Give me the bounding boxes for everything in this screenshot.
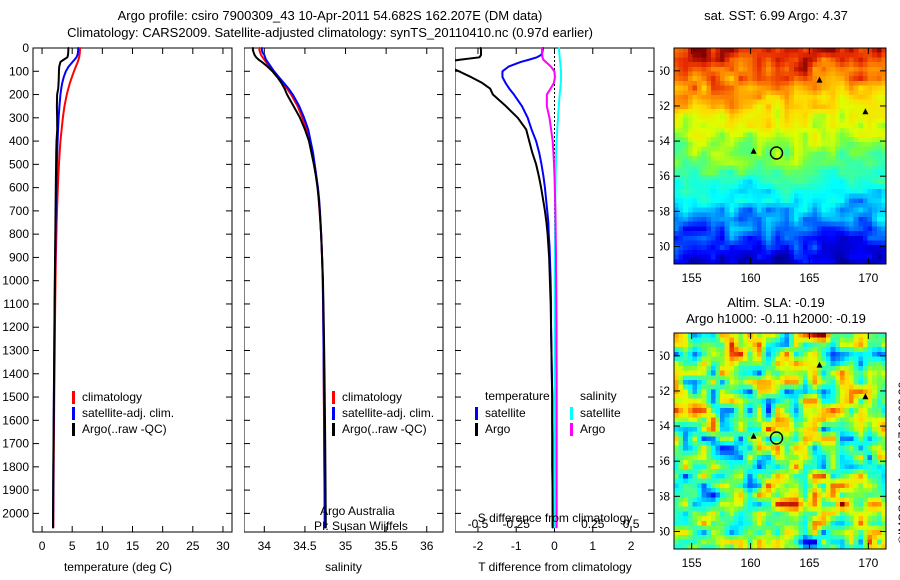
map-cell <box>858 347 863 352</box>
map-cell <box>840 371 845 376</box>
map-cell <box>798 427 803 432</box>
map-cell <box>739 511 744 516</box>
map-cell <box>725 100 730 105</box>
map-cell <box>729 95 734 100</box>
map-cell <box>785 137 790 142</box>
map-cell <box>849 441 854 446</box>
map-cell <box>817 474 822 479</box>
map-cell <box>831 422 836 427</box>
map-cell <box>775 133 780 138</box>
map-cell <box>808 147 813 152</box>
map-cell <box>845 338 850 343</box>
tick-label: 1700 <box>2 437 29 451</box>
map-cell <box>762 356 767 361</box>
map-cell <box>785 347 790 352</box>
map-cell <box>757 526 762 531</box>
map-cell <box>743 338 748 343</box>
map-cell <box>729 100 734 105</box>
map-cell <box>692 109 697 114</box>
map-cell <box>697 474 702 479</box>
map-cell <box>831 90 836 95</box>
map-cell <box>794 250 799 255</box>
map-cell <box>780 250 785 255</box>
map-cell <box>789 441 794 446</box>
map-cell <box>734 203 739 208</box>
map-cell <box>688 540 693 545</box>
map-cell <box>743 375 748 380</box>
map-cell <box>688 347 693 352</box>
map-cell <box>789 450 794 455</box>
map-cell <box>692 151 697 156</box>
map-cell <box>683 109 688 114</box>
map-cell <box>798 469 803 474</box>
map-cell <box>845 385 850 390</box>
difference-x-axis-label-top: S difference from climatology <box>450 511 660 525</box>
map-cell <box>835 460 840 465</box>
map-cell <box>863 464 868 469</box>
legend-swatch-argo <box>332 423 335 436</box>
map-cell <box>752 231 757 236</box>
map-cell <box>688 526 693 531</box>
map-cell <box>771 212 776 217</box>
map-cell <box>715 385 720 390</box>
map-cell <box>743 450 748 455</box>
map-cell <box>725 184 730 189</box>
map-cell <box>748 161 753 166</box>
map-cell <box>734 535 739 540</box>
map-cell <box>803 198 808 203</box>
map-cell <box>808 170 813 175</box>
map-cell <box>743 151 748 156</box>
map-cell <box>835 493 840 498</box>
map-cell <box>812 179 817 184</box>
map-cell <box>739 361 744 366</box>
map-cell <box>739 507 744 512</box>
map-cell <box>674 361 679 366</box>
map-cell <box>688 123 693 128</box>
map-cell <box>849 208 854 213</box>
map-cell <box>794 62 799 67</box>
map-cell <box>831 226 836 231</box>
map-cell <box>679 469 684 474</box>
map-cell <box>725 90 730 95</box>
map-cell <box>688 236 693 241</box>
map-cell <box>766 62 771 67</box>
map-cell <box>817 48 822 53</box>
map-cell <box>702 198 707 203</box>
map-cell <box>877 217 882 222</box>
map-cell <box>757 212 762 217</box>
map-cell <box>877 342 882 347</box>
map-cell <box>798 540 803 545</box>
map-cell <box>835 469 840 474</box>
map-cell <box>872 408 877 413</box>
map-cell <box>697 57 702 62</box>
map-cell <box>757 250 762 255</box>
map-cell <box>715 483 720 488</box>
map-cell <box>877 133 882 138</box>
map-cell <box>766 231 771 236</box>
map-cell <box>702 338 707 343</box>
map-cell <box>872 413 877 418</box>
map-cell <box>808 516 813 521</box>
map-cell <box>840 236 845 241</box>
map-cell <box>775 474 780 479</box>
map-cell <box>849 474 854 479</box>
map-cell <box>775 71 780 76</box>
map-cell <box>729 469 734 474</box>
map-cell <box>739 147 744 152</box>
map-cell <box>683 441 688 446</box>
map-cell <box>858 446 863 451</box>
map-cell <box>679 516 684 521</box>
map-cell <box>817 189 822 194</box>
map-cell <box>743 356 748 361</box>
map-cell <box>688 446 693 451</box>
map-cell <box>817 95 822 100</box>
map-cell <box>812 241 817 246</box>
map-cell <box>692 338 697 343</box>
map-cell <box>803 208 808 213</box>
map-cell <box>688 469 693 474</box>
map-cell <box>711 123 716 128</box>
map-cell <box>854 222 859 227</box>
map-cell <box>794 422 799 427</box>
map-cell <box>729 86 734 91</box>
map-cell <box>766 526 771 531</box>
map-cell <box>748 114 753 119</box>
map-cell <box>872 175 877 180</box>
map-cell <box>697 123 702 128</box>
map-cell <box>785 161 790 166</box>
map-cell <box>692 184 697 189</box>
map-cell <box>863 479 868 484</box>
map-cell <box>826 250 831 255</box>
map-cell <box>798 488 803 493</box>
map-cell <box>794 208 799 213</box>
map-cell <box>803 479 808 484</box>
map-cell <box>845 502 850 507</box>
map-cell <box>831 137 836 142</box>
map-cell <box>706 76 711 81</box>
map-cell <box>812 175 817 180</box>
map-cell <box>794 502 799 507</box>
map-cell <box>858 62 863 67</box>
map-cell <box>706 245 711 250</box>
map-cell <box>674 231 679 236</box>
map-cell <box>748 507 753 512</box>
map-cell <box>775 76 780 81</box>
map-cell <box>679 488 684 493</box>
map-cell <box>752 338 757 343</box>
map-cell <box>697 408 702 413</box>
map-cell <box>720 375 725 380</box>
map-cell <box>780 455 785 460</box>
map-cell <box>683 422 688 427</box>
map-cell <box>775 511 780 516</box>
map-cell <box>817 109 822 114</box>
map-cell <box>872 441 877 446</box>
map-cell <box>702 114 707 119</box>
map-cell <box>775 114 780 119</box>
map-cell <box>775 361 780 366</box>
map-cell <box>858 427 863 432</box>
map-cell <box>766 446 771 451</box>
map-cell <box>789 212 794 217</box>
tick-label: 155 <box>682 271 702 285</box>
map-cell <box>845 427 850 432</box>
map-cell <box>702 502 707 507</box>
map-cell <box>789 133 794 138</box>
map-cell <box>762 90 767 95</box>
map-cell <box>771 128 776 133</box>
map-cell <box>702 380 707 385</box>
map-cell <box>771 165 776 170</box>
map-cell <box>817 446 822 451</box>
map-cell <box>739 222 744 227</box>
map-cell <box>812 48 817 53</box>
map-cell <box>702 81 707 86</box>
map-cell <box>715 250 720 255</box>
map-cell <box>743 170 748 175</box>
map-cell <box>858 133 863 138</box>
map-cell <box>798 222 803 227</box>
map-cell <box>757 123 762 128</box>
map-cell <box>706 502 711 507</box>
map-cell <box>789 156 794 161</box>
map-cell <box>803 123 808 128</box>
map-cell <box>785 371 790 376</box>
map-cell <box>683 380 688 385</box>
map-cell <box>688 366 693 371</box>
map-cell <box>762 521 767 526</box>
map-cell <box>785 241 790 246</box>
tick-label: 1900 <box>2 483 29 497</box>
map-cell <box>771 118 776 123</box>
map-cell <box>877 62 882 67</box>
map-cell <box>748 245 753 250</box>
map-cell <box>849 464 854 469</box>
map-cell <box>849 432 854 437</box>
map-cell <box>877 86 882 91</box>
map-cell <box>702 100 707 105</box>
map-cell <box>752 352 757 357</box>
map-cell <box>826 455 831 460</box>
map-cell <box>785 71 790 76</box>
map-cell <box>743 361 748 366</box>
map-cell <box>812 488 817 493</box>
map-cell <box>720 123 725 128</box>
map-cell <box>812 255 817 260</box>
map-cell <box>706 147 711 152</box>
map-cell <box>808 361 813 366</box>
map-cell <box>780 422 785 427</box>
map-cell <box>752 81 757 86</box>
map-cell <box>798 356 803 361</box>
map-cell <box>692 67 697 72</box>
map-cell <box>831 57 836 62</box>
map-cell <box>831 250 836 255</box>
map-cell <box>821 347 826 352</box>
map-cell <box>877 479 882 484</box>
map-cell <box>854 217 859 222</box>
map-cell <box>835 114 840 119</box>
map-cell <box>826 338 831 343</box>
map-cell <box>679 236 684 241</box>
map-cell <box>808 375 813 380</box>
map-cell <box>840 165 845 170</box>
map-cell <box>720 194 725 199</box>
map-cell <box>702 530 707 535</box>
map-cell <box>789 526 794 531</box>
map-cell <box>771 255 776 260</box>
map-cell <box>752 526 757 531</box>
map-cell <box>702 165 707 170</box>
map-cell <box>821 118 826 123</box>
map-cell <box>674 338 679 343</box>
map-cell <box>734 455 739 460</box>
map-cell <box>702 366 707 371</box>
map-cell <box>688 231 693 236</box>
map-cell <box>812 100 817 105</box>
map-cell <box>840 245 845 250</box>
map-cell <box>766 165 771 170</box>
map-cell <box>877 526 882 531</box>
map-cell <box>789 488 794 493</box>
map-cell <box>835 100 840 105</box>
map-cell <box>798 385 803 390</box>
map-cell <box>863 521 868 526</box>
map-cell <box>798 474 803 479</box>
map-cell <box>734 511 739 516</box>
map-cell <box>780 62 785 67</box>
map-cell <box>835 198 840 203</box>
map-cell <box>854 338 859 343</box>
legend-swatch-satellite <box>72 407 75 420</box>
map-cell <box>752 441 757 446</box>
map-cell <box>725 57 730 62</box>
map-cell <box>762 165 767 170</box>
map-cell <box>785 142 790 147</box>
map-cell <box>679 231 684 236</box>
map-cell <box>683 479 688 484</box>
map-cell <box>697 497 702 502</box>
map-cell <box>789 109 794 114</box>
map-cell <box>849 231 854 236</box>
map-cell <box>697 128 702 133</box>
map-cell <box>854 356 859 361</box>
map-cell <box>748 441 753 446</box>
map-cell <box>817 497 822 502</box>
map-cell <box>872 427 877 432</box>
map-cell <box>720 380 725 385</box>
map-cell <box>803 380 808 385</box>
map-cell <box>794 104 799 109</box>
map-cell <box>706 236 711 241</box>
map-cell <box>683 241 688 246</box>
map-cell <box>766 250 771 255</box>
map-cell <box>845 245 850 250</box>
map-cell <box>803 488 808 493</box>
map-cell <box>794 441 799 446</box>
map-cell <box>748 76 753 81</box>
tick-label: 600 <box>9 181 29 195</box>
map-cell <box>817 403 822 408</box>
map-cell <box>798 147 803 152</box>
map-cell <box>766 255 771 260</box>
map-cell <box>845 530 850 535</box>
map-cell <box>697 479 702 484</box>
map-cell <box>743 165 748 170</box>
map-cell <box>808 399 813 404</box>
legend-label-climatology: climatology <box>82 390 142 404</box>
map-cell <box>711 371 716 376</box>
map-cell <box>725 394 730 399</box>
map-cell <box>798 67 803 72</box>
map-cell <box>835 371 840 376</box>
map-cell <box>692 194 697 199</box>
map-cell <box>849 333 854 338</box>
map-cell <box>845 464 850 469</box>
map-cell <box>702 255 707 260</box>
map-cell <box>808 198 813 203</box>
map-cell <box>766 198 771 203</box>
map-cell <box>780 399 785 404</box>
map-cell <box>863 147 868 152</box>
map-cell <box>720 76 725 81</box>
map-cell <box>798 90 803 95</box>
map-cell <box>748 109 753 114</box>
map-cell <box>849 502 854 507</box>
map-cell <box>812 352 817 357</box>
map-cell <box>808 118 813 123</box>
map-cell <box>845 118 850 123</box>
map-cell <box>706 432 711 437</box>
map-cell <box>683 184 688 189</box>
map-cell <box>674 48 679 53</box>
map-cell <box>766 516 771 521</box>
map-cell <box>697 338 702 343</box>
map-cell <box>725 403 730 408</box>
map-cell <box>702 511 707 516</box>
map-cell <box>771 137 776 142</box>
map-cell <box>817 385 822 390</box>
map-cell <box>840 142 845 147</box>
map-cell <box>831 432 836 437</box>
map-cell <box>674 366 679 371</box>
map-cell <box>877 255 882 260</box>
map-cell <box>863 488 868 493</box>
map-cell <box>711 403 716 408</box>
map-cell <box>762 394 767 399</box>
map-cell <box>683 399 688 404</box>
map-cell <box>868 142 873 147</box>
map-cell <box>757 497 762 502</box>
map-cell <box>863 95 868 100</box>
map-cell <box>817 156 822 161</box>
map-cell <box>688 422 693 427</box>
map-cell <box>683 62 688 67</box>
map-cell <box>692 413 697 418</box>
map-cell <box>688 71 693 76</box>
map-cell <box>752 53 757 58</box>
map-cell <box>858 535 863 540</box>
map-cell <box>785 479 790 484</box>
map-cell <box>877 194 882 199</box>
map-cell <box>821 226 826 231</box>
map-cell <box>729 371 734 376</box>
map-cell <box>789 53 794 58</box>
